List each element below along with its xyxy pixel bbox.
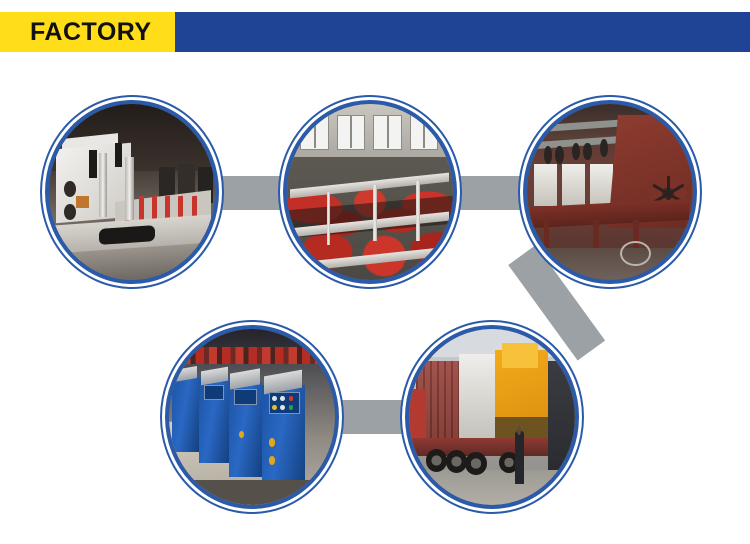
photo-frame-4-inner bbox=[165, 325, 339, 509]
photo-frame-3-inner bbox=[523, 100, 697, 284]
photo-red-machine-assembly-floor bbox=[287, 104, 453, 280]
factory-banner-graphic: FACTORY bbox=[0, 0, 750, 544]
photo-frame-2-inner bbox=[283, 100, 457, 284]
photo-frame-2 bbox=[278, 95, 462, 289]
connector-photo2-photo3 bbox=[455, 176, 523, 210]
photo-frame-3 bbox=[518, 95, 702, 289]
photo-frame-5 bbox=[400, 320, 584, 514]
photo-frame-4 bbox=[160, 320, 344, 514]
connector-photo4-photo5 bbox=[336, 400, 408, 434]
photo-blue-control-cabinets bbox=[169, 329, 335, 505]
photo-frame-1-inner bbox=[45, 100, 219, 284]
photo-maroon-heavy-machine bbox=[527, 104, 693, 280]
photo-container-truck-loading bbox=[409, 329, 575, 505]
page-title: FACTORY bbox=[30, 12, 152, 52]
header-band-blue bbox=[175, 12, 750, 52]
photo-frame-1 bbox=[40, 95, 224, 289]
photo-frame-5-inner bbox=[405, 325, 579, 509]
header-band: FACTORY bbox=[0, 12, 750, 52]
photo-cnc-machining-line bbox=[49, 104, 215, 280]
